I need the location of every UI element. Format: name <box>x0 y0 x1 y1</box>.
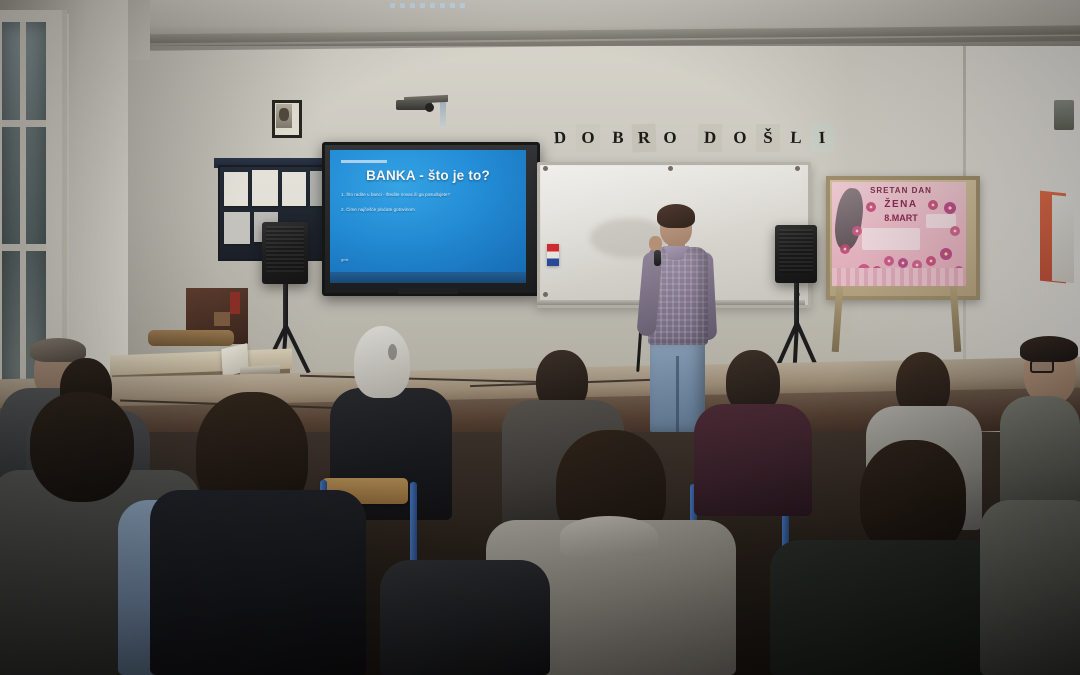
wall-letter: R <box>632 124 657 153</box>
flower-icon <box>928 200 938 210</box>
student-fg-curly <box>150 490 366 675</box>
taskbar-icon[interactable] <box>460 3 465 8</box>
taskbar-icon[interactable] <box>430 3 435 8</box>
wall-letter: D <box>698 124 723 153</box>
taskbar-icon[interactable] <box>440 3 445 8</box>
speaker-stand-pole <box>283 284 288 330</box>
bulletin-paper <box>224 172 248 206</box>
slide-bullet: 2. Čime najčešće plaćate gotovinom <box>341 207 415 212</box>
table-item <box>148 330 234 346</box>
hoodie-collar <box>560 516 658 556</box>
cabinet-handle <box>214 312 230 326</box>
bulletin-paper <box>224 212 250 244</box>
slide-bullet: 1. Što radite u banci - štedite novac il… <box>341 192 450 197</box>
wall-letter: L <box>784 124 809 153</box>
display-stand <box>398 288 458 294</box>
slide-logo: gmk <box>341 258 349 262</box>
taskbar-icon[interactable] <box>450 3 455 8</box>
speaker-stand-pole <box>794 283 799 327</box>
student-fg-left-hair <box>30 392 134 502</box>
whiteboard-clip <box>543 292 548 297</box>
hood-fold <box>388 344 397 360</box>
taskbar-icon[interactable] <box>390 3 395 8</box>
shelf-book <box>230 292 240 314</box>
whiteboard-clip <box>668 166 673 171</box>
wall-letter: D <box>548 124 573 153</box>
student-hood <box>354 326 410 398</box>
wall-letter: O <box>728 124 753 153</box>
window-mullion <box>20 22 26 392</box>
poster-fringe <box>832 268 966 286</box>
projector-lens-icon <box>425 103 434 112</box>
slide-kicker-bar <box>341 160 387 163</box>
speaker-grill <box>779 229 813 273</box>
microphone-icon <box>654 250 661 266</box>
flower-icon <box>852 226 862 236</box>
wall-poster-white <box>1052 195 1074 283</box>
student-fg-far-right <box>980 500 1080 675</box>
bulletin-paper <box>282 172 306 206</box>
taskbar-icon[interactable] <box>400 3 405 8</box>
flower-icon <box>950 226 960 236</box>
glasses-icon <box>1030 360 1054 373</box>
speaker-grill <box>266 226 304 272</box>
flower-icon <box>898 258 908 268</box>
student-fg-gap <box>380 560 550 675</box>
presenter-leg-split <box>676 356 679 432</box>
bulletin-paper <box>252 170 278 206</box>
whiteboard-clip <box>543 166 548 171</box>
presenter-hand <box>649 236 662 251</box>
presenter-hair <box>657 204 695 228</box>
flower-icon <box>944 202 956 214</box>
flower-icon <box>926 256 936 266</box>
whiteboard-clip <box>795 166 800 171</box>
croatian-flag-magnet <box>547 244 559 266</box>
student-fg-right-hair <box>860 440 966 556</box>
wall-letter: O <box>658 124 682 152</box>
student-hair <box>1020 336 1078 362</box>
wall-letter: B <box>606 124 631 153</box>
taskbar-icon[interactable] <box>410 3 415 8</box>
taskbar-icon[interactable] <box>420 3 425 8</box>
flower-icon <box>866 202 876 212</box>
wall-letter: Š <box>756 124 780 152</box>
flower-icon <box>940 248 952 260</box>
classroom-photo: DOBRODOŠLI BANKA - što je to? 1. Što rad… <box>0 0 1080 675</box>
portrait-face <box>279 108 289 121</box>
projector-mount-drop <box>440 102 446 128</box>
flower-icon <box>840 244 850 254</box>
wall-letters-dobro-dosli: DOBRODOŠLI <box>548 122 833 156</box>
student-maroon <box>694 404 812 516</box>
slide-title: BANKA - što je to? <box>330 168 526 183</box>
flower-icon <box>884 256 894 266</box>
wall-letter: I <box>810 124 835 153</box>
display-taskbar[interactable] <box>330 272 526 283</box>
wall-letter: O <box>576 124 600 152</box>
wall-fixture <box>1054 100 1074 130</box>
